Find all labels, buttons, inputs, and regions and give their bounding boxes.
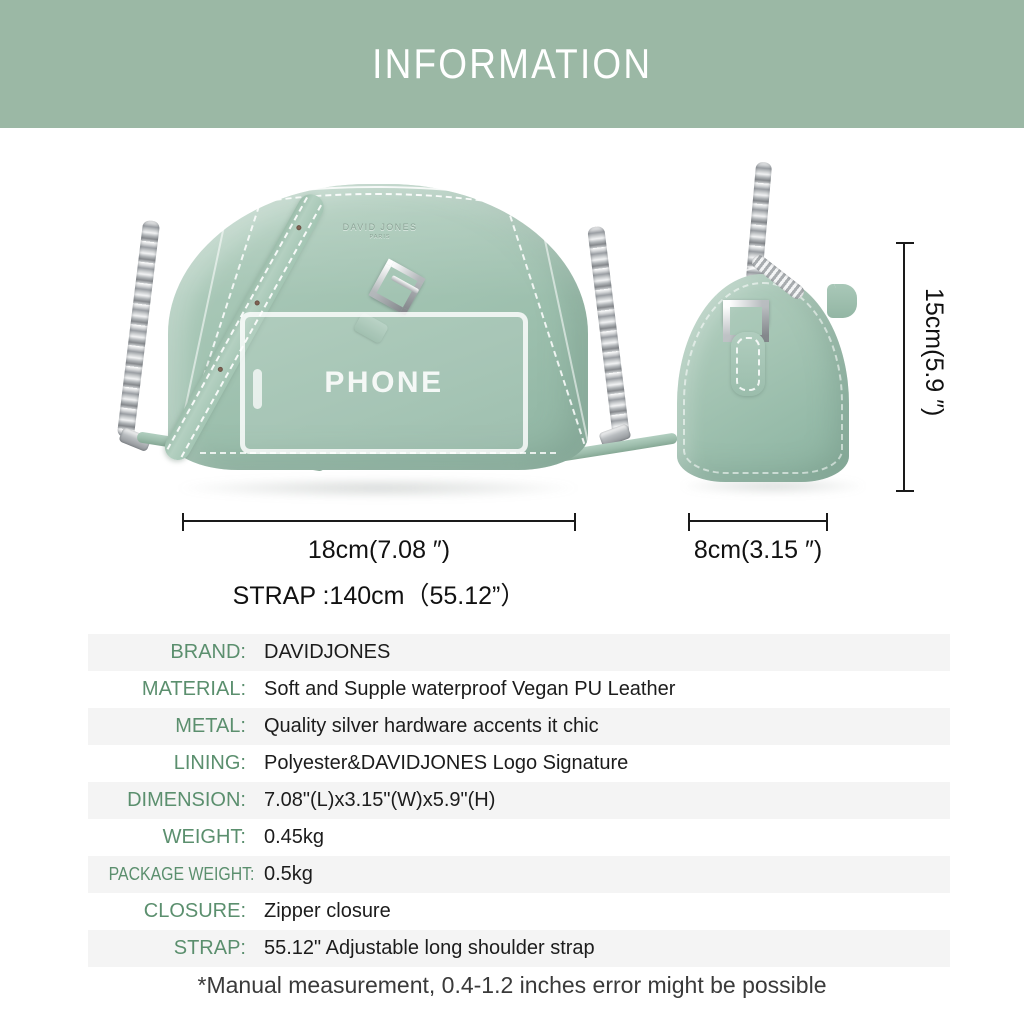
spec-value: Quality silver hardware accents it chic — [260, 715, 950, 738]
strap-hole — [295, 224, 302, 231]
spec-label: MATERIAL: — [88, 678, 260, 701]
strap-length-label: STRAP :140cm（55.12”） — [152, 576, 606, 612]
spec-value: Zipper closure — [260, 900, 950, 923]
header-band: INFORMATION — [0, 0, 1024, 128]
spec-label: DIMENSION: — [88, 789, 260, 812]
spec-label: BRAND: — [88, 641, 260, 664]
table-row: CLOSURE: Zipper closure — [88, 893, 950, 930]
bag-side-view — [655, 148, 905, 518]
spec-value: Soft and Supple waterproof Vegan PU Leat… — [260, 678, 950, 701]
height-dimension-line — [903, 242, 905, 492]
depth-dimension-line — [688, 520, 828, 522]
phone-size-overlay: PHONE — [240, 312, 528, 454]
spec-label: LINING: — [88, 752, 260, 775]
table-row: LINING: Polyester&DAVIDJONES Logo Signat… — [88, 745, 950, 782]
table-row: WEIGHT: 0.45kg — [88, 819, 950, 856]
measurement-disclaimer: *Manual measurement, 0.4-1.2 inches erro… — [0, 972, 1024, 999]
spec-value: 55.12" Adjustable long shoulder strap — [260, 937, 950, 960]
table-row: STRAP: 55.12" Adjustable long shoulder s… — [88, 930, 950, 967]
product-information-page: INFORMATION DAVID JONES PARIS — [0, 0, 1024, 1024]
side-strap-tab — [731, 332, 765, 396]
brand-emboss-subtext: PARIS — [320, 234, 440, 240]
table-row: PACKAGE WEIGHT: 0.5kg — [88, 856, 950, 893]
depth-dimension-label: 8cm(3.15 ″) — [668, 536, 848, 565]
strap-hole — [217, 366, 224, 373]
spec-value: 0.5kg — [260, 863, 950, 886]
spec-label: PACKAGE WEIGHT: — [109, 864, 260, 885]
bag-front-view: DAVID JONES PARIS PHONE — [108, 160, 638, 510]
table-row: BRAND: DAVIDJONES — [88, 634, 950, 671]
table-row: DIMENSION: 7.08"(L)x3.15"(W)x5.9"(H) — [88, 782, 950, 819]
table-row: METAL: Quality silver hardware accents i… — [88, 708, 950, 745]
spec-label: METAL: — [88, 715, 260, 738]
phone-overlay-label: PHONE — [324, 366, 443, 400]
chain-strap-right — [587, 226, 630, 438]
page-title: INFORMATION — [372, 40, 652, 88]
spec-value: Polyester&DAVIDJONES Logo Signature — [260, 752, 950, 775]
chain-strap-left — [117, 220, 160, 438]
brand-emboss-text: DAVID JONES — [343, 222, 418, 232]
phone-side-button-icon — [253, 369, 262, 409]
spec-label: CLOSURE: — [88, 900, 260, 923]
product-image-stage: DAVID JONES PARIS PHONE — [0, 128, 1024, 628]
brand-emboss: DAVID JONES PARIS — [320, 222, 440, 240]
width-dimension-label: 18cm(7.08 ″) — [182, 536, 576, 565]
spec-label: WEIGHT: — [88, 826, 260, 849]
spec-value: 0.45kg — [260, 826, 950, 849]
spec-value: 7.08"(L)x3.15"(W)x5.9"(H) — [260, 789, 950, 812]
spec-value: DAVIDJONES — [260, 641, 950, 664]
table-row: MATERIAL: Soft and Supple waterproof Veg… — [88, 671, 950, 708]
spec-label: STRAP: — [88, 937, 260, 960]
front-view-shadow — [178, 478, 578, 498]
width-dimension-line — [182, 520, 576, 522]
specification-table: BRAND: DAVIDJONES MATERIAL: Soft and Sup… — [88, 634, 950, 967]
height-dimension-label: 15cm(5.9 ″) — [919, 288, 948, 416]
strap-hole — [254, 299, 261, 306]
